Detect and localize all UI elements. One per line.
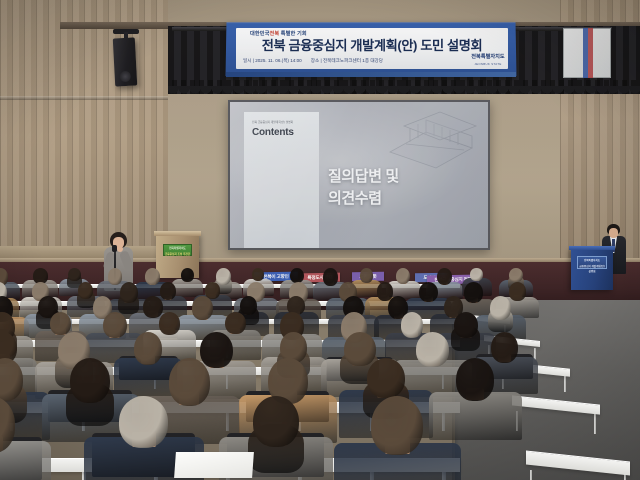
audience-head xyxy=(509,282,526,301)
audience-head xyxy=(160,282,176,300)
audience-head xyxy=(437,268,452,285)
conference-photo: 대한민국전북 특별한 기회 전북 금융중심지 개발계획(안) 도민 설명회 일시… xyxy=(0,0,640,480)
audience-head xyxy=(169,358,210,406)
slide-heading-line1: 질의답변 및 xyxy=(328,166,478,188)
desk-paper xyxy=(174,452,254,478)
loudspeaker-icon xyxy=(113,37,137,86)
microphone-icon xyxy=(112,245,117,252)
audience-head xyxy=(401,312,424,338)
desk-leg xyxy=(530,470,532,480)
wall-seam xyxy=(0,96,168,100)
audience-head xyxy=(371,396,423,455)
desk-leg xyxy=(594,414,596,434)
building-illustration-icon xyxy=(380,108,484,170)
slide-heading-line2: 의견수렴 xyxy=(328,188,478,210)
board-stripe-red xyxy=(588,28,593,78)
audience-head xyxy=(143,296,163,318)
audience-head xyxy=(205,282,221,299)
podium-left-top xyxy=(154,231,201,236)
audience-head xyxy=(419,282,438,302)
audience-head xyxy=(290,268,304,283)
podium-right-top xyxy=(569,246,615,250)
projection-screen-icon: 전북 금융중심지 개발계획(안) 설명회 Contents 질의답변 및 의견수… xyxy=(230,102,488,248)
banner-datetime: 일시 | 2025. 11. 06.(목) 14:00 xyxy=(243,56,302,65)
audience-head xyxy=(119,396,168,448)
audience-head xyxy=(490,296,511,320)
audience-head xyxy=(253,396,299,447)
podium-right-sign-line2: 금융중심지 개발계획(안) 설명회 xyxy=(578,263,606,274)
podium-left-sign-line2: 금융중심지 조성 추진단 xyxy=(164,251,191,257)
audience-head xyxy=(509,268,523,282)
audience-head xyxy=(70,358,110,403)
podium-right-sign: 전북특별자치도 금융중심지 개발계획(안) 설명회 xyxy=(577,256,607,269)
curtain-scallop xyxy=(168,86,640,100)
audience-head xyxy=(367,358,406,398)
banner-organization: 전북특별자치도 JEONBUK STATE xyxy=(466,54,510,66)
audience-head xyxy=(134,332,162,365)
audience-head xyxy=(145,268,161,285)
audience-head xyxy=(344,332,376,366)
audience-head xyxy=(470,268,482,281)
slide-contents-label: Contents xyxy=(252,126,318,139)
audience-head xyxy=(50,312,71,335)
audience-head xyxy=(120,282,138,303)
audience-head xyxy=(323,268,338,286)
audience-head xyxy=(416,332,449,367)
audience-head xyxy=(225,312,246,334)
audience-head xyxy=(360,268,373,283)
banner-title: 전북 금융중심지 개발계획(안) 도민 설명회 xyxy=(243,37,501,54)
audience-head xyxy=(454,312,478,338)
podium-left-sign: 전북특별자치도 금융중심지 조성 추진단 xyxy=(163,244,192,256)
desk-leg xyxy=(564,376,566,392)
audience-head xyxy=(192,296,213,320)
audience-head xyxy=(159,312,180,335)
audience-head xyxy=(103,312,127,338)
audience-head xyxy=(216,268,231,285)
audience-head xyxy=(68,268,80,281)
banner-org-name: 전북특별자치도 xyxy=(471,54,504,60)
banner-org-sub: JEONBUK STATE xyxy=(474,62,501,66)
audience-head xyxy=(396,268,410,284)
audience-head xyxy=(491,332,518,363)
audience-head xyxy=(78,282,93,299)
banner-meta: 일시 | 2025. 11. 06.(목) 14:00 장소 | 전북테크노파크… xyxy=(243,56,473,65)
audience-head xyxy=(200,332,232,368)
audience-head xyxy=(240,296,257,315)
banner-place: 장소 | 전북테크노파크센터 1층 대강당 xyxy=(311,56,383,65)
banner-lower-stripe xyxy=(226,72,516,77)
audience-head xyxy=(181,268,194,282)
audience-head xyxy=(456,358,494,401)
audience-head xyxy=(108,268,122,285)
audience-head xyxy=(464,282,482,303)
audience-head xyxy=(252,268,265,281)
